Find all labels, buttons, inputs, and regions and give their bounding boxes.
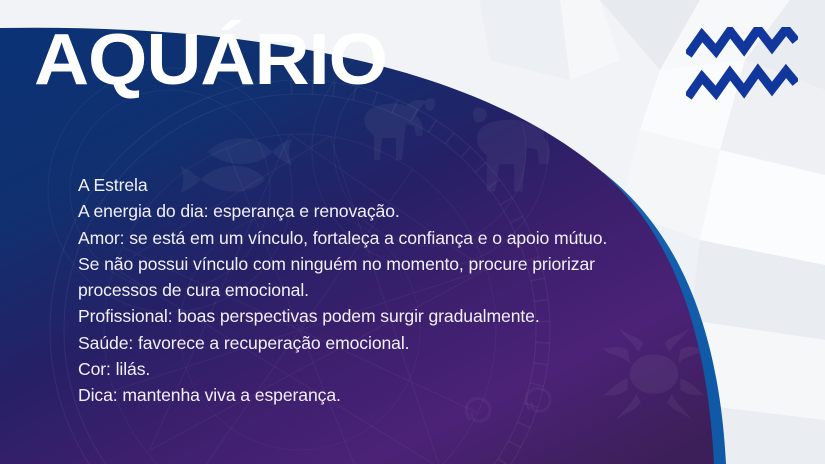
body-line: A energia do dia: esperança e renovação. <box>78 198 678 224</box>
body-line: Dica: mantenha viva a esperança. <box>78 382 678 408</box>
body-line: Se não possui vínculo com ninguém no mom… <box>78 251 678 277</box>
page-title: AQUÁRIO <box>34 26 387 94</box>
horoscope-card: AQUÁRIO A Estrela A energia do dia: espe… <box>0 0 825 464</box>
body-line: Amor: se está em um vínculo, fortaleça a… <box>78 225 678 251</box>
horoscope-body: A Estrela A energia do dia: esperança e … <box>78 172 678 409</box>
body-line: Profissional: boas perspectivas podem su… <box>78 303 678 329</box>
aquarius-waves-icon <box>686 27 798 105</box>
body-line: Saúde: favorece a recuperação emocional. <box>78 330 678 356</box>
body-line: processos de cura emocional. <box>78 277 678 303</box>
body-line: A Estrela <box>78 172 678 198</box>
body-line: Cor: lilás. <box>78 356 678 382</box>
